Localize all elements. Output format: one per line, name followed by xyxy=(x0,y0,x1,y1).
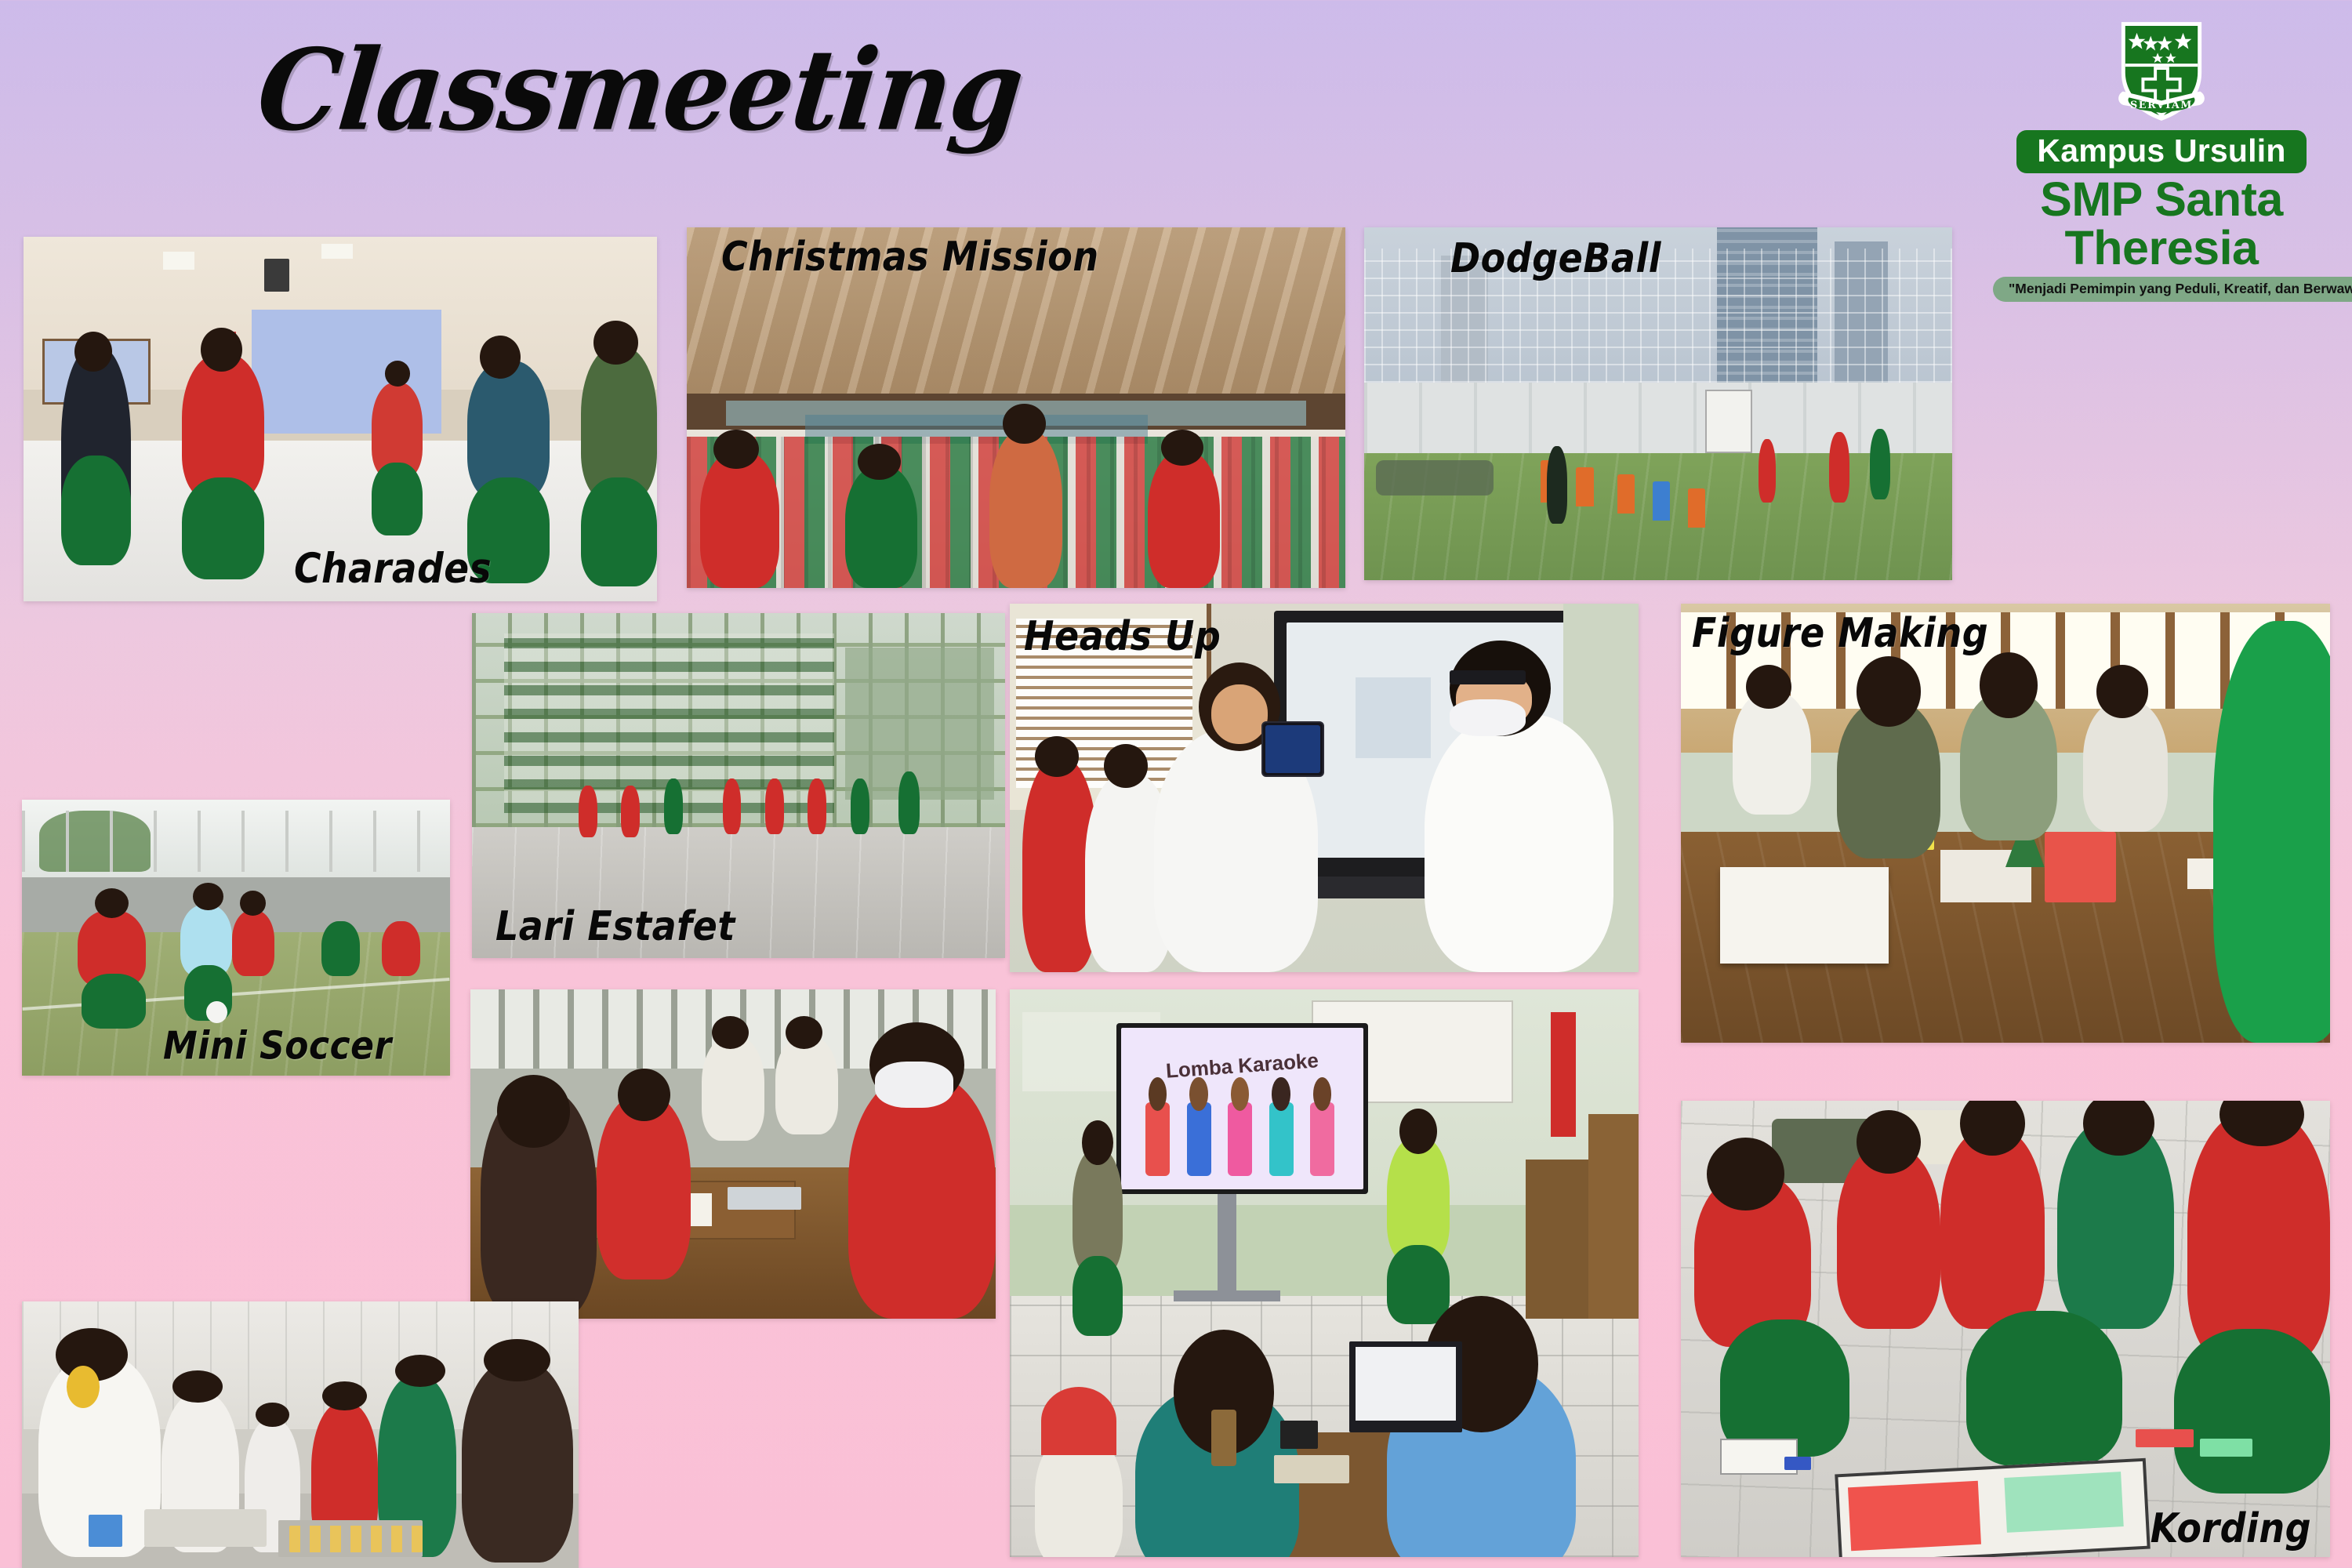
photo-figure-making-image xyxy=(1681,604,2330,1043)
photo-masterchef-caption: Masterchef xyxy=(188,1301,420,1305)
photo-membuat-komik-caption: Membuat Komik xyxy=(651,1313,984,1319)
photo-christmas-mission-caption: Christmas Mission xyxy=(721,233,1099,280)
campus-label: Kampus Ursulin xyxy=(2016,130,2306,173)
photo-charades-caption: Charades xyxy=(294,545,492,593)
photo-christmas-mission-image xyxy=(687,227,1345,588)
photo-charades[interactable]: Charades xyxy=(24,237,657,601)
photo-heads-up[interactable]: Heads Up xyxy=(1010,604,1639,972)
photo-figure-making[interactable]: Figure Making xyxy=(1681,604,2330,1043)
school-name: SMP Santa Theresia xyxy=(1993,175,2330,272)
photo-kording-caption: Kording xyxy=(2151,1504,2311,1552)
photo-membuat-komik-image xyxy=(470,989,996,1319)
phone-device xyxy=(1261,721,1324,777)
school-logo-block: SERVIAM Kampus Ursulin SMP Santa Theresi… xyxy=(1993,17,2330,302)
photo-karaoke[interactable]: Lomba Karaoke xyxy=(1010,989,1639,1557)
photo-kording[interactable]: Kording xyxy=(1681,1101,2330,1557)
photo-mini-soccer-caption: Mini Soccer xyxy=(163,1024,392,1069)
photo-heads-up-caption: Heads Up xyxy=(1024,612,1221,659)
shield-cross-stars-icon: SERVIAM xyxy=(2115,17,2208,125)
photo-masterchef-image xyxy=(22,1301,579,1568)
photo-christmas-mission[interactable]: Christmas Mission xyxy=(687,227,1345,588)
photo-figure-making-caption: Figure Making xyxy=(1692,609,1988,656)
photo-dodgeball-caption: DodgeBall xyxy=(1450,234,1661,281)
photo-membuat-komik[interactable]: Membuat Komik xyxy=(470,989,996,1319)
photo-lari-estafet-caption: Lari Estafet xyxy=(495,902,735,949)
photo-lari-estafet[interactable]: Lari Estafet xyxy=(472,613,1005,958)
page-title: Classmeeting xyxy=(252,25,1028,156)
photo-mini-soccer[interactable]: Mini Soccer xyxy=(22,800,450,1076)
photo-dodgeball[interactable]: DodgeBall xyxy=(1364,227,1952,580)
photo-karaoke-image: Lomba Karaoke xyxy=(1010,989,1639,1557)
karaoke-tv-screen: Lomba Karaoke xyxy=(1116,1023,1368,1193)
school-tagline: "Menjadi Pemimpin yang Peduli, Kreatif, … xyxy=(1993,277,2352,302)
svg-text:SERVIAM: SERVIAM xyxy=(2130,100,2193,111)
photo-kording-image xyxy=(1681,1101,2330,1557)
photo-masterchef[interactable]: Masterchef xyxy=(22,1301,579,1568)
